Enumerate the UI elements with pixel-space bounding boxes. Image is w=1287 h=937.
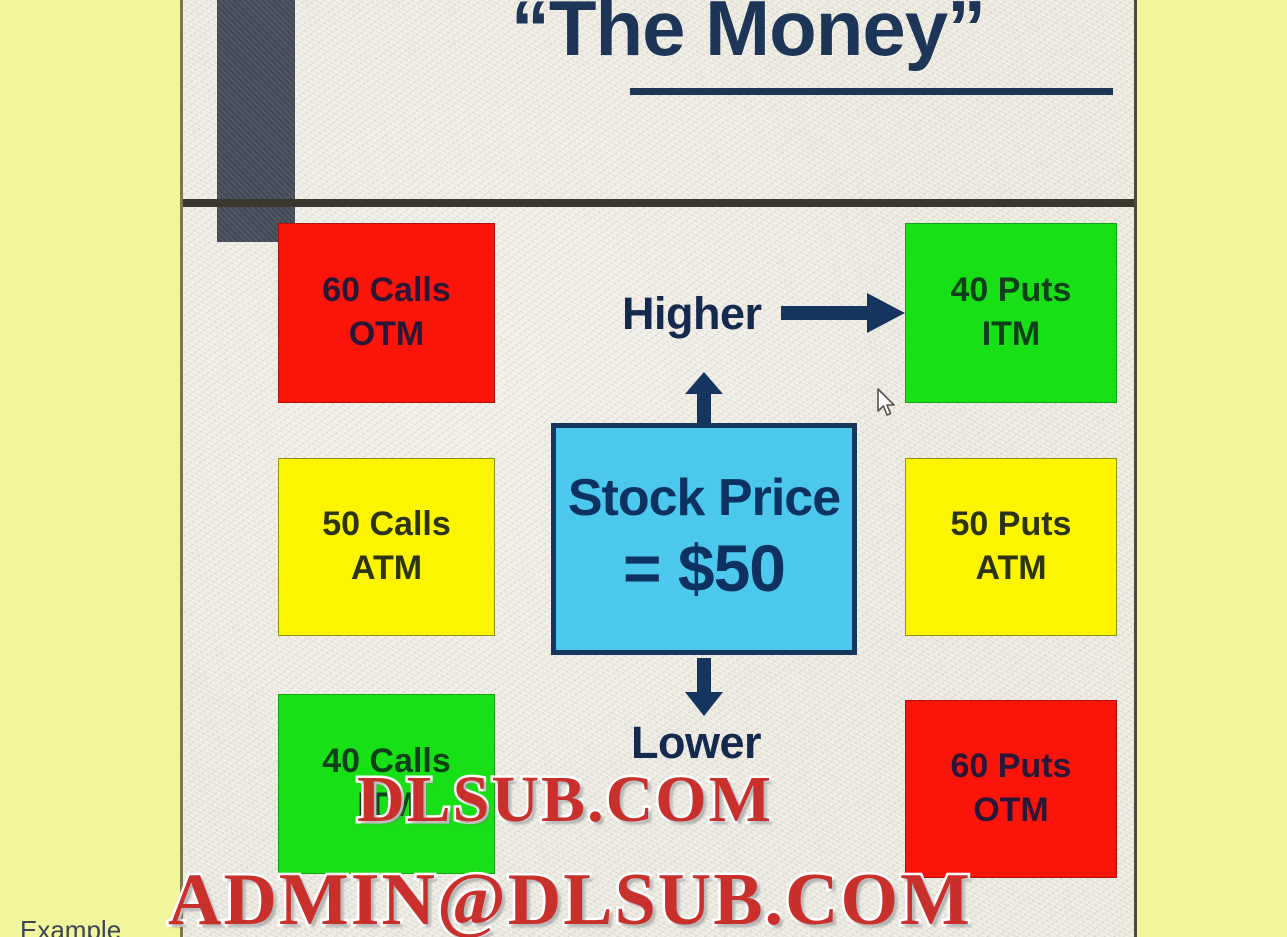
option-box-line2: ATM [351,547,422,591]
mouse-cursor-icon [877,388,899,418]
option-box-line2: ITM [982,313,1041,357]
title-underline [630,88,1113,95]
arrow-down-icon [683,658,725,716]
watermark-site: DLSUB.COM [357,762,773,838]
option-box-line1: 50 Puts [951,503,1072,547]
option-box-line2: OTM [973,789,1049,833]
option-box-calls-otm[interactable]: 60 Calls OTM [278,223,495,403]
option-box-puts-itm[interactable]: 40 Puts ITM [905,223,1117,403]
watermark-email: ADMIN@DLSUB.COM [168,858,972,937]
option-box-line2: OTM [349,313,425,357]
screenshot-root: “The Money” 60 Calls OTM 40 Puts ITM 50 … [0,0,1287,937]
stock-price-label: Stock Price [568,471,840,526]
arrow-up-icon [683,372,725,426]
option-box-calls-atm[interactable]: 50 Calls ATM [278,458,495,636]
arrow-right-icon [781,289,905,337]
higher-label: Higher [622,288,762,340]
option-box-line1: 60 Puts [951,745,1072,789]
option-box-line1: 40 Puts [951,269,1072,313]
stock-price-box[interactable]: Stock Price = $50 [551,423,857,655]
header-divider [180,199,1137,207]
page-title: “The Money” [363,0,1133,72]
option-box-line1: 60 Calls [322,269,451,313]
stock-price-value: = $50 [623,531,785,607]
option-box-line2: ATM [975,547,1046,591]
corner-partial-text: Example [20,915,121,937]
option-box-line1: 50 Calls [322,503,451,547]
option-box-puts-atm[interactable]: 50 Puts ATM [905,458,1117,636]
option-box-puts-otm[interactable]: 60 Puts OTM [905,700,1117,878]
